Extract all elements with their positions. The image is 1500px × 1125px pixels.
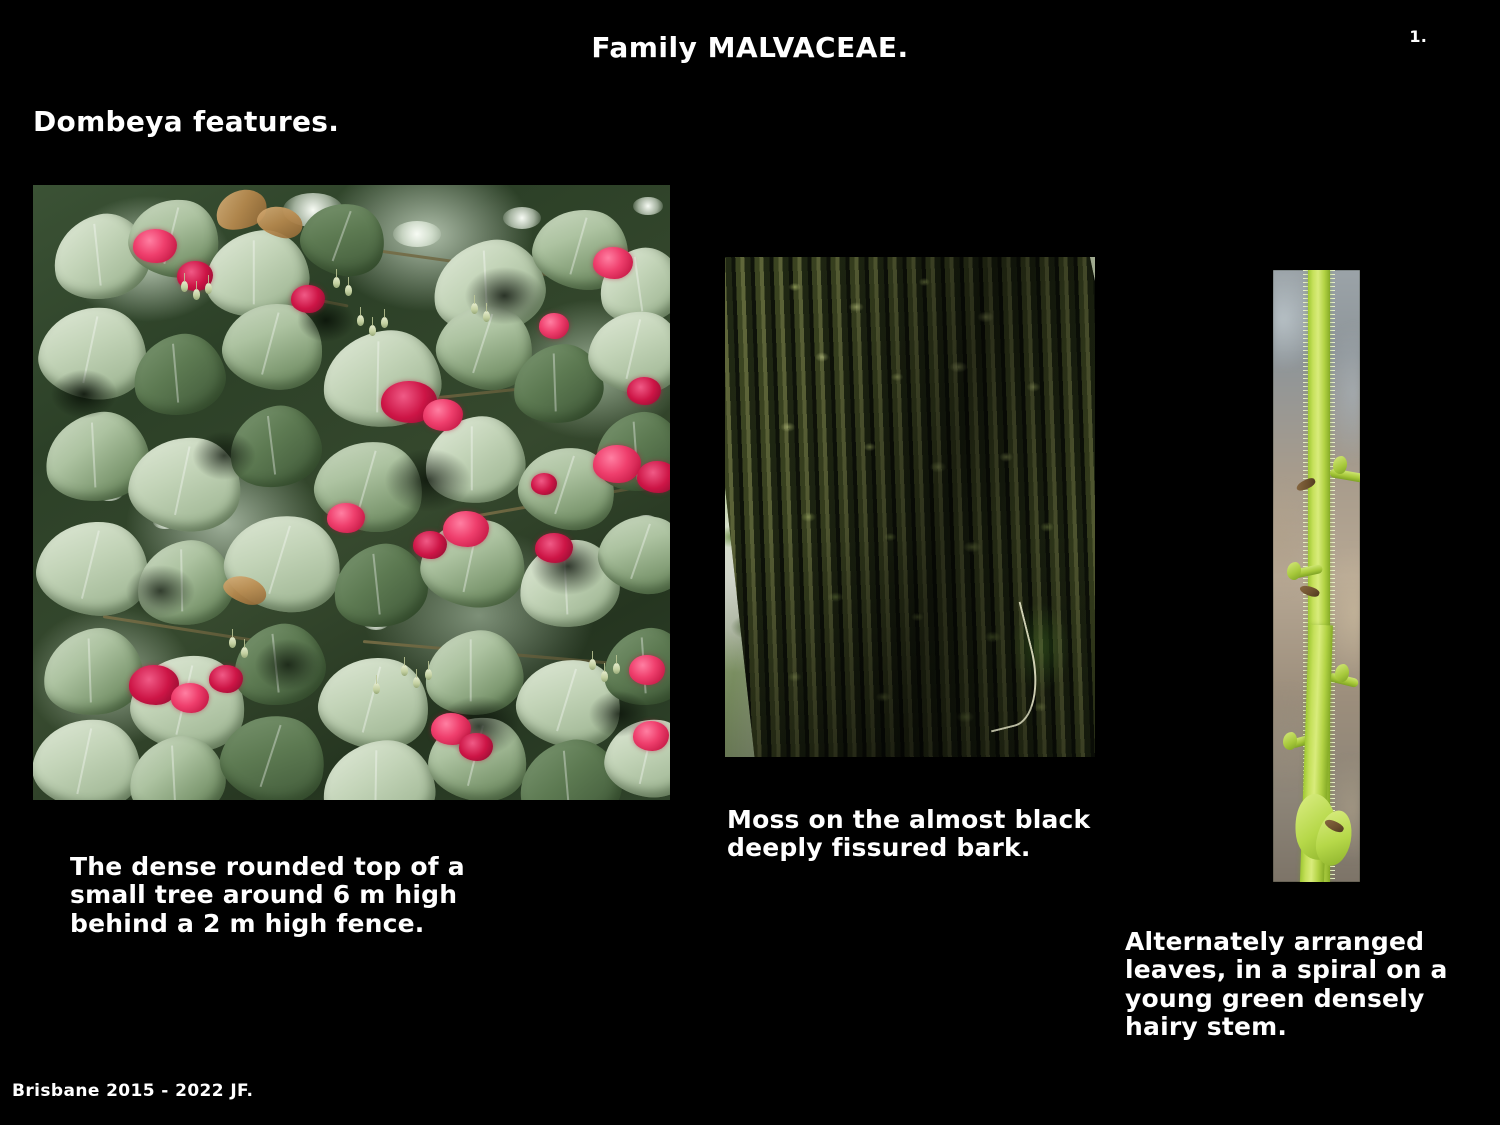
subtitle: Dombeya features. — [33, 105, 339, 138]
flower — [633, 721, 669, 751]
flower-bud — [425, 669, 432, 680]
flower — [531, 473, 557, 495]
flower-bud — [333, 277, 340, 288]
flower — [443, 511, 489, 547]
flower — [593, 247, 633, 279]
caption-canopy: The dense rounded top of a small tree ar… — [70, 853, 500, 938]
flower — [637, 461, 670, 493]
page-title: Family MALVACEAE. — [0, 31, 1500, 64]
flowering-canopy-photo — [33, 185, 670, 800]
flower-bud — [373, 683, 380, 694]
flower-bud — [483, 311, 490, 322]
flower-bud — [401, 665, 408, 676]
flower-bud — [193, 289, 200, 300]
flower — [423, 399, 463, 431]
flower — [133, 229, 177, 263]
flower-bud — [413, 677, 420, 688]
flower — [593, 445, 641, 483]
flower-bud — [357, 315, 364, 326]
flower — [459, 733, 493, 761]
caption-bark: Moss on the almost black deeply fissured… — [727, 806, 1127, 863]
page-number: 1. — [1409, 27, 1427, 46]
flower — [539, 313, 569, 339]
flower — [535, 533, 573, 563]
flower — [291, 285, 325, 313]
bark-shadow-overlay — [725, 257, 1095, 757]
canopy-shadow-overlay — [33, 185, 670, 800]
flower-bud — [601, 671, 608, 682]
flower — [413, 531, 447, 559]
flower-bud — [241, 647, 248, 658]
flower — [209, 665, 243, 693]
flower — [627, 377, 661, 405]
flower-bud — [181, 281, 188, 292]
flower-bud — [613, 663, 620, 674]
flower-bud — [229, 637, 236, 648]
flower — [327, 503, 365, 533]
flower-bud — [471, 303, 478, 314]
slide-canvas: Family MALVACEAE. 1. Dombeya features. — [0, 0, 1500, 1125]
flower-bud — [369, 325, 376, 336]
flower — [629, 655, 665, 685]
flower-bud — [345, 285, 352, 296]
flower — [171, 683, 209, 713]
flower-bud — [589, 659, 596, 670]
caption-stem: Alternately arranged leaves, in a spiral… — [1125, 928, 1455, 1041]
footer-credit: Brisbane 2015 - 2022 JF. — [12, 1081, 253, 1101]
flower-bud — [381, 317, 388, 328]
flower-bud — [205, 283, 212, 294]
mossy-bark-photo — [725, 257, 1095, 757]
hairy-green-stem-photo — [1273, 270, 1360, 882]
